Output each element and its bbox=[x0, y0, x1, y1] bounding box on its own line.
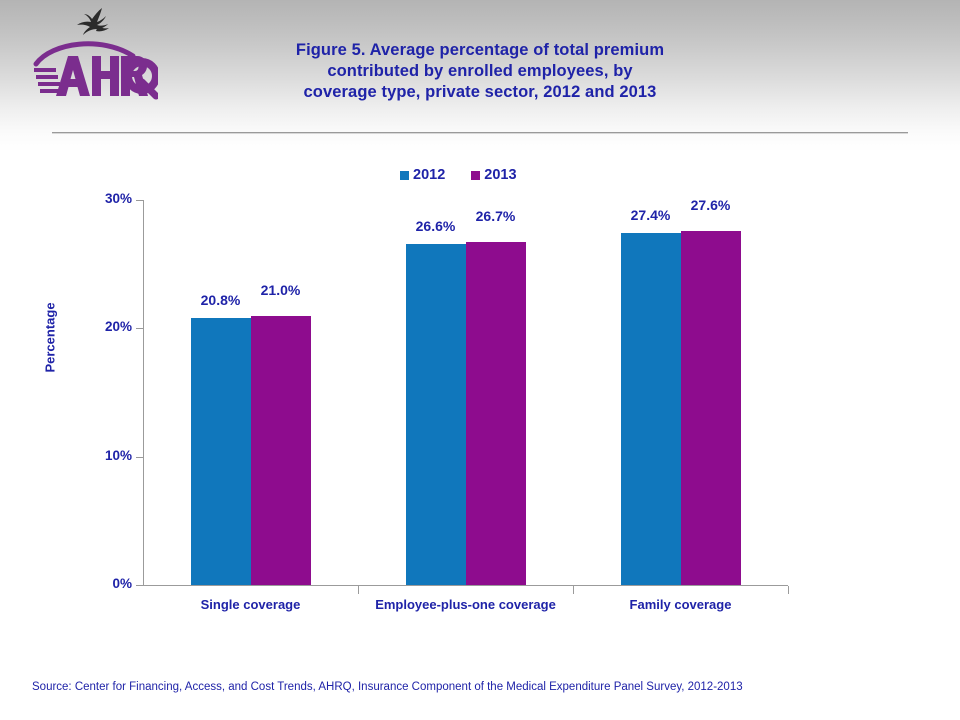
category-label: Employee-plus-one coverage bbox=[356, 597, 576, 612]
x-axis-line bbox=[143, 585, 788, 586]
bar-chart-plot: Percentage 0%10%20%30% 20.8%21.0%26.6%26… bbox=[0, 0, 960, 720]
bar-value-label: 27.4% bbox=[619, 207, 683, 223]
bar-2013-3[interactable] bbox=[681, 231, 741, 585]
bar-2012-3[interactable] bbox=[621, 233, 681, 585]
bar-value-label: 27.6% bbox=[679, 197, 743, 213]
bar-value-label: 21.0% bbox=[249, 282, 313, 298]
bar-2013-1[interactable] bbox=[251, 316, 311, 586]
bar-value-label: 20.8% bbox=[189, 292, 253, 308]
y-tick-label: 0% bbox=[84, 576, 132, 591]
bar-value-label: 26.7% bbox=[464, 208, 528, 224]
bar-2012-2[interactable] bbox=[406, 244, 466, 585]
y-axis-line bbox=[143, 200, 144, 586]
y-axis-title: Percentage bbox=[43, 278, 58, 398]
slide-canvas: Figure 5. Average percentage of total pr… bbox=[0, 0, 960, 720]
category-divider-tick bbox=[573, 586, 574, 594]
y-tick-mark bbox=[136, 457, 143, 458]
y-tick-label: 20% bbox=[84, 319, 132, 334]
y-tick-label: 30% bbox=[84, 191, 132, 206]
y-tick-mark bbox=[136, 328, 143, 329]
bar-value-label: 26.6% bbox=[404, 218, 468, 234]
bar-2012-1[interactable] bbox=[191, 318, 251, 585]
category-divider-tick bbox=[358, 586, 359, 594]
category-label: Single coverage bbox=[141, 597, 361, 612]
category-label: Family coverage bbox=[571, 597, 791, 612]
y-tick-mark bbox=[136, 200, 143, 201]
source-note: Source: Center for Financing, Access, an… bbox=[32, 681, 743, 693]
y-tick-mark bbox=[136, 585, 143, 586]
bar-2013-2[interactable] bbox=[466, 242, 526, 585]
category-divider-tick bbox=[788, 586, 789, 594]
y-tick-label: 10% bbox=[84, 448, 132, 463]
